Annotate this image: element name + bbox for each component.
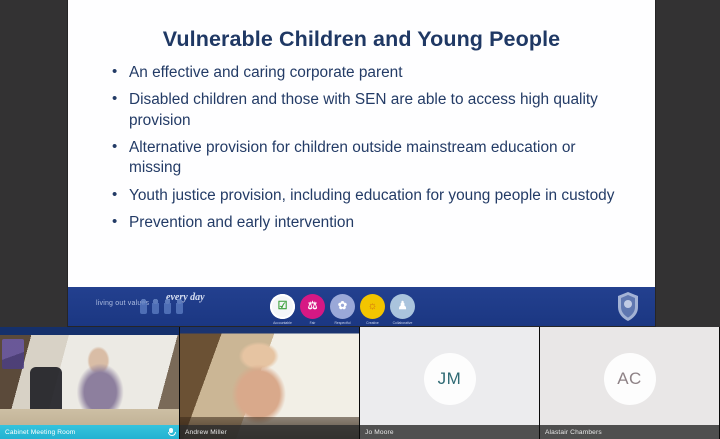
participant-tile[interactable]: Cabinet Meeting Room — [0, 327, 180, 439]
slide-bullet: Youth justice provision, including educa… — [112, 186, 629, 206]
checklist-icon: ☑ Accountable — [270, 294, 295, 319]
lightbulb-icon: ☼ Creative — [360, 294, 385, 319]
values-brand-lockup: living out values every day — [68, 287, 268, 326]
lightbulb-glyph: ☼ — [367, 301, 377, 312]
slide-footer-band: living out values every day ☑ Accountabl… — [68, 287, 655, 326]
participant-name: Jo Moore — [365, 429, 534, 436]
participant-video-placeholder: AC — [540, 327, 719, 439]
slide-bullet: Alternative provision for children outsi… — [112, 138, 629, 179]
teamwork-glyph: ♟ — [398, 301, 408, 312]
participant-tile[interactable]: Andrew Miller — [180, 327, 360, 439]
participant-name-bar: Alastair Chambers — [540, 425, 719, 439]
participant-video-feed — [180, 327, 359, 439]
teamwork-caption: Collaborative — [393, 321, 413, 325]
participant-name-bar: Andrew Miller — [180, 425, 359, 439]
avatar-initials: JM — [438, 369, 462, 389]
screen-share-stage: Vulnerable Children and Young People An … — [0, 0, 720, 327]
slide-title: Vulnerable Children and Young People — [94, 27, 629, 52]
participant-name: Andrew Miller — [185, 429, 354, 436]
handshake-glyph: ✿ — [338, 301, 347, 312]
people-figures-icon — [140, 299, 183, 314]
checklist-glyph: ☑ — [278, 301, 288, 312]
slide-bullet: Prevention and early intervention — [112, 213, 629, 233]
slide-bullet-list: An effective and caring corporate parent… — [112, 63, 629, 233]
participant-name: Cabinet Meeting Room — [5, 429, 168, 436]
checklist-caption: Accountable — [273, 321, 292, 325]
microphone-icon — [168, 428, 174, 437]
participant-name-bar: Cabinet Meeting Room — [0, 425, 179, 439]
participant-filmstrip: Cabinet Meeting Room Andrew Miller JM Jo… — [0, 327, 720, 439]
participant-name-bar: Jo Moore — [360, 425, 539, 439]
participant-name: Alastair Chambers — [545, 429, 714, 436]
participant-video-feed — [0, 327, 179, 439]
video-conference-window: Vulnerable Children and Young People An … — [0, 0, 720, 439]
slide-content: Vulnerable Children and Young People An … — [68, 0, 655, 287]
handshake-icon: ✿ Respectful — [330, 294, 355, 319]
teamwork-icon: ♟ Collaborative — [390, 294, 415, 319]
balance-scale-icon: ⚖ Fair — [300, 294, 325, 319]
balance-scale-glyph: ⚖ — [308, 301, 318, 312]
values-icon-row: ☑ Accountable ⚖ Fair ✿ Respectful ☼ Crea… — [270, 294, 415, 319]
avatar-initials: AC — [617, 369, 642, 389]
participant-tile[interactable]: JM Jo Moore — [360, 327, 540, 439]
presentation-slide[interactable]: Vulnerable Children and Young People An … — [68, 0, 655, 326]
participant-video-placeholder: JM — [360, 327, 539, 439]
balance-scale-caption: Fair — [310, 321, 316, 325]
lightbulb-caption: Creative — [366, 321, 379, 325]
handshake-caption: Respectful — [334, 321, 350, 325]
avatar: JM — [424, 353, 476, 405]
avatar: AC — [604, 353, 656, 405]
office-chair-shape — [30, 367, 62, 415]
participant-tile[interactable]: AC Alastair Chambers — [540, 327, 720, 439]
slide-bullet: An effective and caring corporate parent — [112, 63, 629, 83]
council-crest-logo — [615, 291, 641, 322]
slide-bullet: Disabled children and those with SEN are… — [112, 90, 629, 131]
